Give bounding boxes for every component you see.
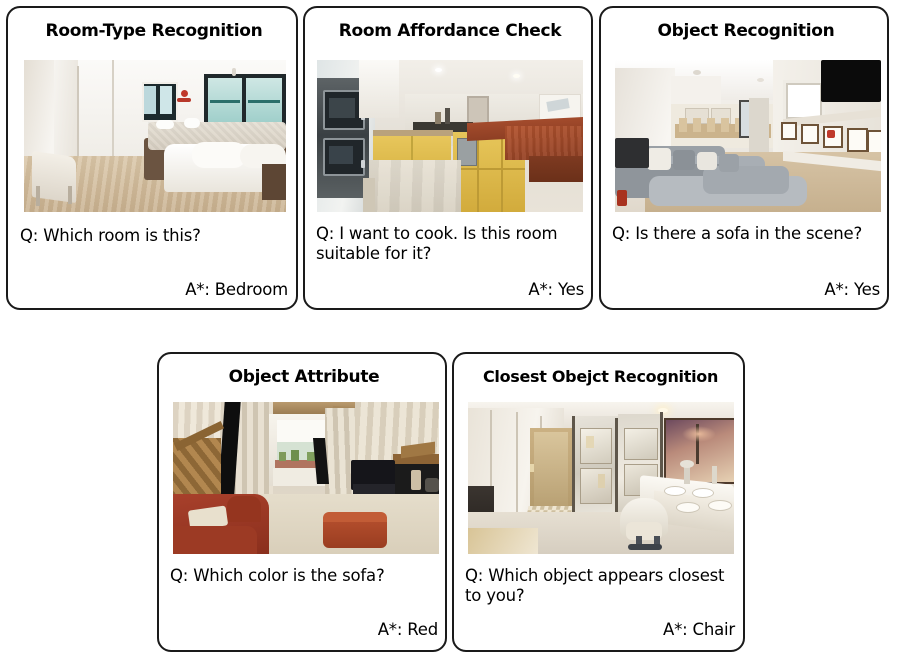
card-answer: A*: Red (170, 620, 438, 640)
card-title: Closest Obejct Recognition (454, 368, 745, 386)
scene-photo-dining (468, 402, 734, 554)
card-question: Q: Which color is the sofa? (170, 566, 442, 586)
card-question: Q: Is there a sofa in the scene? (612, 224, 884, 244)
card-question: Q: Which object appears closest to you? (465, 566, 739, 606)
card-title: Room Affordance Check (305, 22, 593, 41)
card-answer: A*: Yes (612, 280, 880, 300)
card-answer: A*: Chair (465, 620, 735, 640)
scene-photo-kitchen (317, 60, 583, 212)
card-title: Room-Type Recognition (8, 22, 298, 41)
card-room-affordance-check: Room Affordance Check (303, 6, 593, 310)
card-answer: A*: Bedroom (20, 280, 288, 300)
card-question: Q: Which room is this? (20, 226, 290, 246)
card-title: Object Attribute (159, 368, 447, 387)
card-answer: A*: Yes (316, 280, 584, 300)
scene-photo-living-red (173, 402, 439, 554)
card-object-attribute: Object Attribute (157, 352, 447, 652)
card-room-type-recognition: Room-Type Recognition (6, 6, 298, 310)
card-title: Object Recognition (601, 22, 889, 41)
card-closest-object-recognition: Closest Obejct Recognition (452, 352, 745, 652)
card-question: Q: I want to cook. Is this room suitable… (316, 224, 588, 264)
figure-root: Room-Type Recognition (0, 0, 900, 660)
card-object-recognition: Object Recognition (599, 6, 889, 310)
scene-photo-living-grey (615, 60, 881, 212)
scene-photo-bedroom (24, 60, 286, 212)
